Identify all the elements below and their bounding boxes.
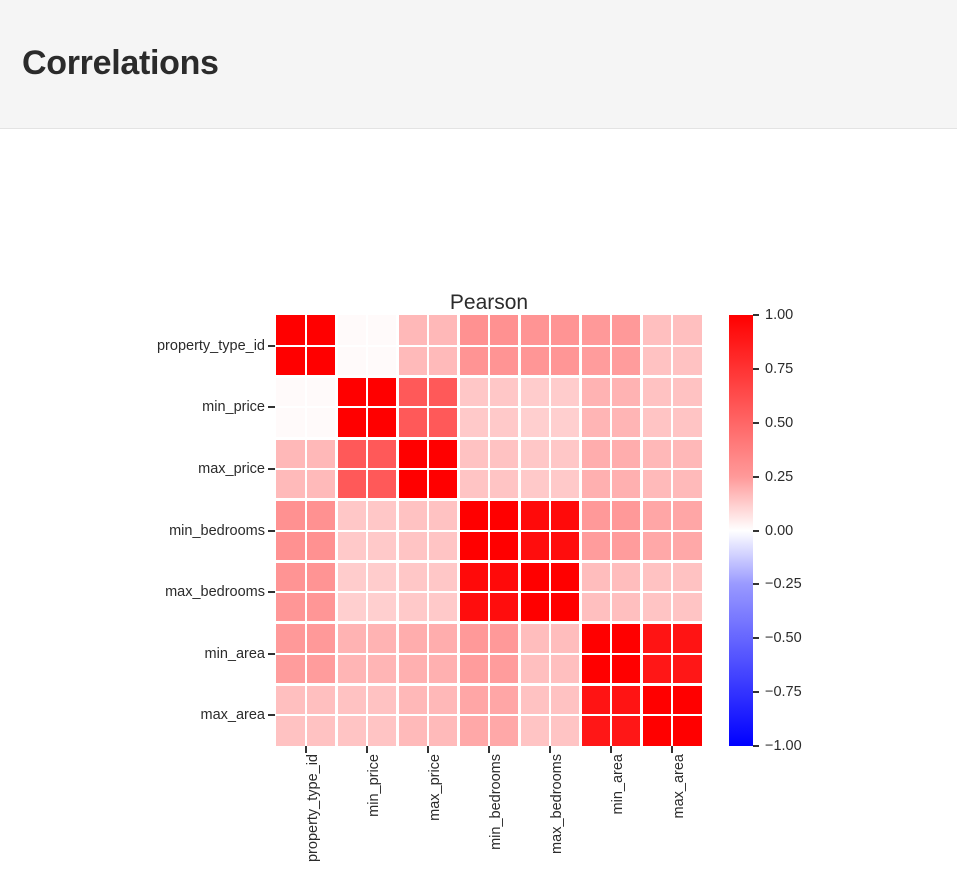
- y-tick-mark: [268, 591, 275, 593]
- heatmap-cell: [489, 346, 519, 377]
- colorbar-tick-label: 0.75: [765, 362, 793, 377]
- heatmap-cell: [367, 715, 397, 746]
- heatmap-cell: [306, 407, 336, 438]
- heatmap-cell: [519, 684, 549, 715]
- heatmap-cell: [337, 623, 367, 654]
- heatmap-cell: [337, 377, 367, 408]
- heatmap-cell: [398, 684, 428, 715]
- y-tick-mark: [268, 653, 275, 655]
- heatmap-cell: [489, 377, 519, 408]
- heatmap-cell: [641, 531, 671, 562]
- y-tick-label-min-area: min_area: [205, 647, 265, 662]
- heatmap-cell: [459, 654, 489, 685]
- heatmap-cell: [550, 346, 580, 377]
- heatmap-cell: [611, 469, 641, 500]
- heatmap-cell: [337, 500, 367, 531]
- heatmap-cell: [611, 531, 641, 562]
- heatmap-cell: [672, 407, 702, 438]
- heatmap-cell: [398, 623, 428, 654]
- heatmap-cell: [337, 684, 367, 715]
- heatmap-cell: [672, 438, 702, 469]
- heatmap-cell: [459, 407, 489, 438]
- x-tick-label-max-price: max_price: [428, 754, 443, 821]
- x-tick-mark: [549, 746, 551, 753]
- heatmap-cell: [611, 346, 641, 377]
- heatmap-cell: [398, 315, 428, 346]
- x-tick-mark: [305, 746, 307, 753]
- heatmap-cell: [611, 623, 641, 654]
- heatmap-cell: [580, 438, 610, 469]
- heatmap-cell: [489, 684, 519, 715]
- heatmap-cell: [306, 377, 336, 408]
- heatmap-cell: [276, 684, 306, 715]
- heatmap-cell: [672, 315, 702, 346]
- heatmap-cell: [428, 561, 458, 592]
- heatmap-cell: [519, 654, 549, 685]
- heatmap-cell: [306, 561, 336, 592]
- heatmap-cell: [489, 531, 519, 562]
- x-tick-label-min-price: min_price: [367, 754, 382, 817]
- heatmap-cell: [550, 500, 580, 531]
- heatmap-cell: [519, 315, 549, 346]
- y-tick-label-property-type-id: property_type_id: [157, 339, 265, 354]
- heatmap-cell: [367, 592, 397, 623]
- colorbar-tick-mark: [753, 691, 759, 693]
- heatmap-cell: [611, 315, 641, 346]
- x-tick-label-min-area: min_area: [610, 754, 625, 814]
- heatmap-cell: [428, 346, 458, 377]
- heatmap-cell: [641, 654, 671, 685]
- heatmap-cell: [672, 561, 702, 592]
- heatmap-cell: [337, 531, 367, 562]
- heatmap-cell: [428, 315, 458, 346]
- heatmap-cell: [398, 407, 428, 438]
- heatmap-cell: [611, 407, 641, 438]
- heatmap-cell: [459, 561, 489, 592]
- y-tick-label-max-price: max_price: [198, 462, 265, 477]
- heatmap-cell: [398, 438, 428, 469]
- heatmap-cell: [276, 531, 306, 562]
- heatmap-cell: [398, 469, 428, 500]
- heatmap-cell: [641, 684, 671, 715]
- heatmap-cell: [672, 684, 702, 715]
- x-tick-label-max-bedrooms: max_bedrooms: [550, 754, 565, 854]
- heatmap-cell: [489, 715, 519, 746]
- app-header: Correlations: [0, 0, 957, 129]
- heatmap-cell: [550, 377, 580, 408]
- colorbar-tick-label: 1.00: [765, 308, 793, 323]
- heatmap-cell: [398, 377, 428, 408]
- y-tick-label-min-price: min_price: [202, 400, 265, 415]
- heatmap-cell: [367, 623, 397, 654]
- colorbar-tick-labels: 1.000.750.500.250.00−0.25−0.50−0.75−1.00: [729, 315, 829, 746]
- heatmap-cell: [550, 531, 580, 562]
- heatmap-cell: [337, 438, 367, 469]
- heatmap-cell: [306, 346, 336, 377]
- heatmap-cell: [276, 623, 306, 654]
- heatmap-cell: [428, 654, 458, 685]
- heatmap-cell: [641, 438, 671, 469]
- heatmap-cell-grid: [276, 315, 702, 746]
- heatmap-cell: [276, 469, 306, 500]
- heatmap-cell: [519, 531, 549, 562]
- heatmap-cell: [428, 684, 458, 715]
- heatmap-cell: [489, 407, 519, 438]
- heatmap-cell: [398, 654, 428, 685]
- colorbar-tick-label: 0.25: [765, 469, 793, 484]
- heatmap-cell: [367, 315, 397, 346]
- heatmap-cell: [276, 592, 306, 623]
- heatmap-cell: [276, 377, 306, 408]
- colorbar-tick-mark: [753, 745, 759, 747]
- x-tick-mark: [488, 746, 490, 753]
- heatmap-cell: [428, 592, 458, 623]
- heatmap-cell: [611, 715, 641, 746]
- heatmap-cell: [550, 715, 580, 746]
- heatmap-cell: [611, 438, 641, 469]
- heatmap-cell: [459, 592, 489, 623]
- heatmap-cell: [276, 346, 306, 377]
- heatmap-cell: [550, 407, 580, 438]
- heatmap-cell: [580, 469, 610, 500]
- heatmap-cell: [276, 561, 306, 592]
- heatmap-cell: [611, 561, 641, 592]
- heatmap-cell: [306, 531, 336, 562]
- x-tick-mark: [366, 746, 368, 753]
- heatmap-cell: [641, 469, 671, 500]
- heatmap-cell: [580, 377, 610, 408]
- heatmap-cell: [367, 469, 397, 500]
- x-tick-label-min-bedrooms: min_bedrooms: [489, 754, 504, 850]
- heatmap-cell: [672, 500, 702, 531]
- heatmap-cell: [367, 438, 397, 469]
- y-tick-mark: [268, 468, 275, 470]
- heatmap-cell: [641, 500, 671, 531]
- heatmap-cell: [641, 623, 671, 654]
- heatmap-cell: [611, 654, 641, 685]
- x-axis-tick-labels: property_type_idmin_pricemax_pricemin_be…: [276, 754, 702, 870]
- heatmap-cell: [398, 561, 428, 592]
- heatmap-cell: [306, 592, 336, 623]
- heatmap-cell: [580, 684, 610, 715]
- heatmap-cell: [337, 469, 367, 500]
- colorbar-tick-mark: [753, 530, 759, 532]
- heatmap-cell: [519, 623, 549, 654]
- heatmap-cell: [367, 500, 397, 531]
- heatmap-cell: [611, 684, 641, 715]
- heatmap-cell: [306, 623, 336, 654]
- heatmap-cell: [459, 684, 489, 715]
- heatmap-cell: [611, 500, 641, 531]
- heatmap-cell: [672, 715, 702, 746]
- heatmap-cell: [276, 315, 306, 346]
- heatmap-cell: [611, 592, 641, 623]
- heatmap-cell: [459, 438, 489, 469]
- heatmap-cell: [367, 377, 397, 408]
- heatmap-cell: [641, 346, 671, 377]
- heatmap-cell: [519, 346, 549, 377]
- heatmap-cell: [337, 592, 367, 623]
- heatmap-cell: [580, 407, 610, 438]
- x-tick-mark: [610, 746, 612, 753]
- heatmap-cell: [276, 438, 306, 469]
- heatmap-cell: [428, 438, 458, 469]
- heatmap-cell: [276, 715, 306, 746]
- heatmap-cell: [580, 561, 610, 592]
- heatmap-plot-area[interactable]: [276, 315, 702, 746]
- heatmap-cell: [580, 315, 610, 346]
- heatmap-cell: [672, 623, 702, 654]
- heatmap-cell: [459, 377, 489, 408]
- heatmap-cell: [398, 592, 428, 623]
- heatmap-cell: [580, 592, 610, 623]
- heatmap-cell: [428, 531, 458, 562]
- heatmap-cell: [459, 315, 489, 346]
- colorbar-tick-label: 0.00: [765, 523, 793, 538]
- heatmap-cell: [641, 592, 671, 623]
- heatmap-cell: [550, 654, 580, 685]
- heatmap-cell: [641, 407, 671, 438]
- heatmap-cell: [489, 592, 519, 623]
- heatmap-cell: [367, 654, 397, 685]
- heatmap-cell: [519, 500, 549, 531]
- heatmap-cell: [489, 500, 519, 531]
- heatmap-cell: [519, 592, 549, 623]
- y-tick-mark: [268, 530, 275, 532]
- heatmap-cell: [367, 531, 397, 562]
- colorbar-tick-mark: [753, 476, 759, 478]
- heatmap-cell: [672, 592, 702, 623]
- heatmap-cell: [550, 315, 580, 346]
- heatmap-cell: [519, 438, 549, 469]
- heatmap-cell: [459, 346, 489, 377]
- heatmap-cell: [428, 715, 458, 746]
- y-tick-label-min-bedrooms: min_bedrooms: [169, 524, 265, 539]
- heatmap-cell: [459, 531, 489, 562]
- heatmap-cell: [550, 561, 580, 592]
- heatmap-cell: [672, 377, 702, 408]
- colorbar-tick-mark: [753, 368, 759, 370]
- colorbar-tick-label: −0.50: [765, 631, 802, 646]
- heatmap-cell: [306, 500, 336, 531]
- x-tick-label-max-area: max_area: [671, 754, 686, 818]
- heatmap-cell: [428, 407, 458, 438]
- heatmap-cell: [367, 561, 397, 592]
- heatmap-cell: [337, 407, 367, 438]
- x-tick-mark: [427, 746, 429, 753]
- heatmap-cell: [641, 715, 671, 746]
- colorbar-tick-mark: [753, 637, 759, 639]
- heatmap-cell: [550, 592, 580, 623]
- heatmap-cell: [306, 315, 336, 346]
- heatmap-cell: [489, 623, 519, 654]
- chart-title: Pearson: [276, 292, 702, 313]
- heatmap-cell: [672, 346, 702, 377]
- heatmap-cell: [276, 407, 306, 438]
- colorbar-tick-label: 0.50: [765, 416, 793, 431]
- heatmap-cell: [276, 500, 306, 531]
- heatmap-cell: [337, 315, 367, 346]
- y-axis-tick-labels: property_type_idmin_pricemax_pricemin_be…: [0, 315, 265, 746]
- heatmap-cell: [367, 346, 397, 377]
- colorbar-tick-mark: [753, 422, 759, 424]
- heatmap-cell: [459, 623, 489, 654]
- heatmap-cell: [550, 438, 580, 469]
- heatmap-cell: [398, 346, 428, 377]
- heatmap-cell: [519, 469, 549, 500]
- heatmap-cell: [550, 469, 580, 500]
- heatmap-cell: [580, 715, 610, 746]
- colorbar-tick-mark: [753, 314, 759, 316]
- x-tick-mark: [671, 746, 673, 753]
- heatmap-cell: [459, 715, 489, 746]
- heatmap-cell: [519, 715, 549, 746]
- heatmap-cell: [489, 315, 519, 346]
- heatmap-cell: [519, 561, 549, 592]
- y-tick-mark: [268, 345, 275, 347]
- heatmap-cell: [306, 654, 336, 685]
- heatmap-cell: [306, 715, 336, 746]
- colorbar-tick-label: −0.25: [765, 577, 802, 592]
- heatmap-cell: [641, 561, 671, 592]
- heatmap-cell: [672, 654, 702, 685]
- heatmap-cell: [580, 654, 610, 685]
- heatmap-cell: [398, 531, 428, 562]
- heatmap-cell: [641, 377, 671, 408]
- heatmap-cell: [306, 438, 336, 469]
- heatmap-cell: [428, 623, 458, 654]
- heatmap-cell: [611, 377, 641, 408]
- heatmap-cell: [580, 346, 610, 377]
- heatmap-cell: [337, 715, 367, 746]
- page-title: Correlations: [22, 46, 219, 80]
- heatmap-cell: [459, 469, 489, 500]
- colorbar-tick-mark: [753, 583, 759, 585]
- heatmap-cell: [580, 531, 610, 562]
- heatmap-cell: [398, 715, 428, 746]
- heatmap-cell: [489, 438, 519, 469]
- heatmap-cell: [337, 561, 367, 592]
- heatmap-cell: [276, 654, 306, 685]
- heatmap-cell: [550, 623, 580, 654]
- heatmap-cell: [641, 315, 671, 346]
- heatmap-cell: [519, 377, 549, 408]
- heatmap-cell: [672, 469, 702, 500]
- heatmap-cell: [580, 500, 610, 531]
- heatmap-cell: [550, 684, 580, 715]
- correlation-heatmap-figure: Pearson property_type_idmin_pricemax_pri…: [0, 129, 957, 741]
- heatmap-cell: [489, 561, 519, 592]
- x-tick-label-property-type-id: property_type_id: [306, 754, 321, 862]
- heatmap-cell: [428, 377, 458, 408]
- y-tick-label-max-bedrooms: max_bedrooms: [165, 585, 265, 600]
- heatmap-cell: [489, 469, 519, 500]
- heatmap-cell: [306, 469, 336, 500]
- heatmap-cell: [398, 500, 428, 531]
- y-tick-mark: [268, 714, 275, 716]
- colorbar-tick-label: −0.75: [765, 685, 802, 700]
- heatmap-cell: [428, 500, 458, 531]
- heatmap-cell: [428, 469, 458, 500]
- heatmap-cell: [367, 684, 397, 715]
- heatmap-cell: [367, 407, 397, 438]
- heatmap-cell: [337, 346, 367, 377]
- y-tick-label-max-area: max_area: [201, 708, 265, 723]
- y-tick-mark: [268, 406, 275, 408]
- heatmap-cell: [580, 623, 610, 654]
- heatmap-cell: [489, 654, 519, 685]
- heatmap-cell: [337, 654, 367, 685]
- heatmap-cell: [519, 407, 549, 438]
- heatmap-cell: [459, 500, 489, 531]
- heatmap-cell: [672, 531, 702, 562]
- heatmap-cell: [306, 684, 336, 715]
